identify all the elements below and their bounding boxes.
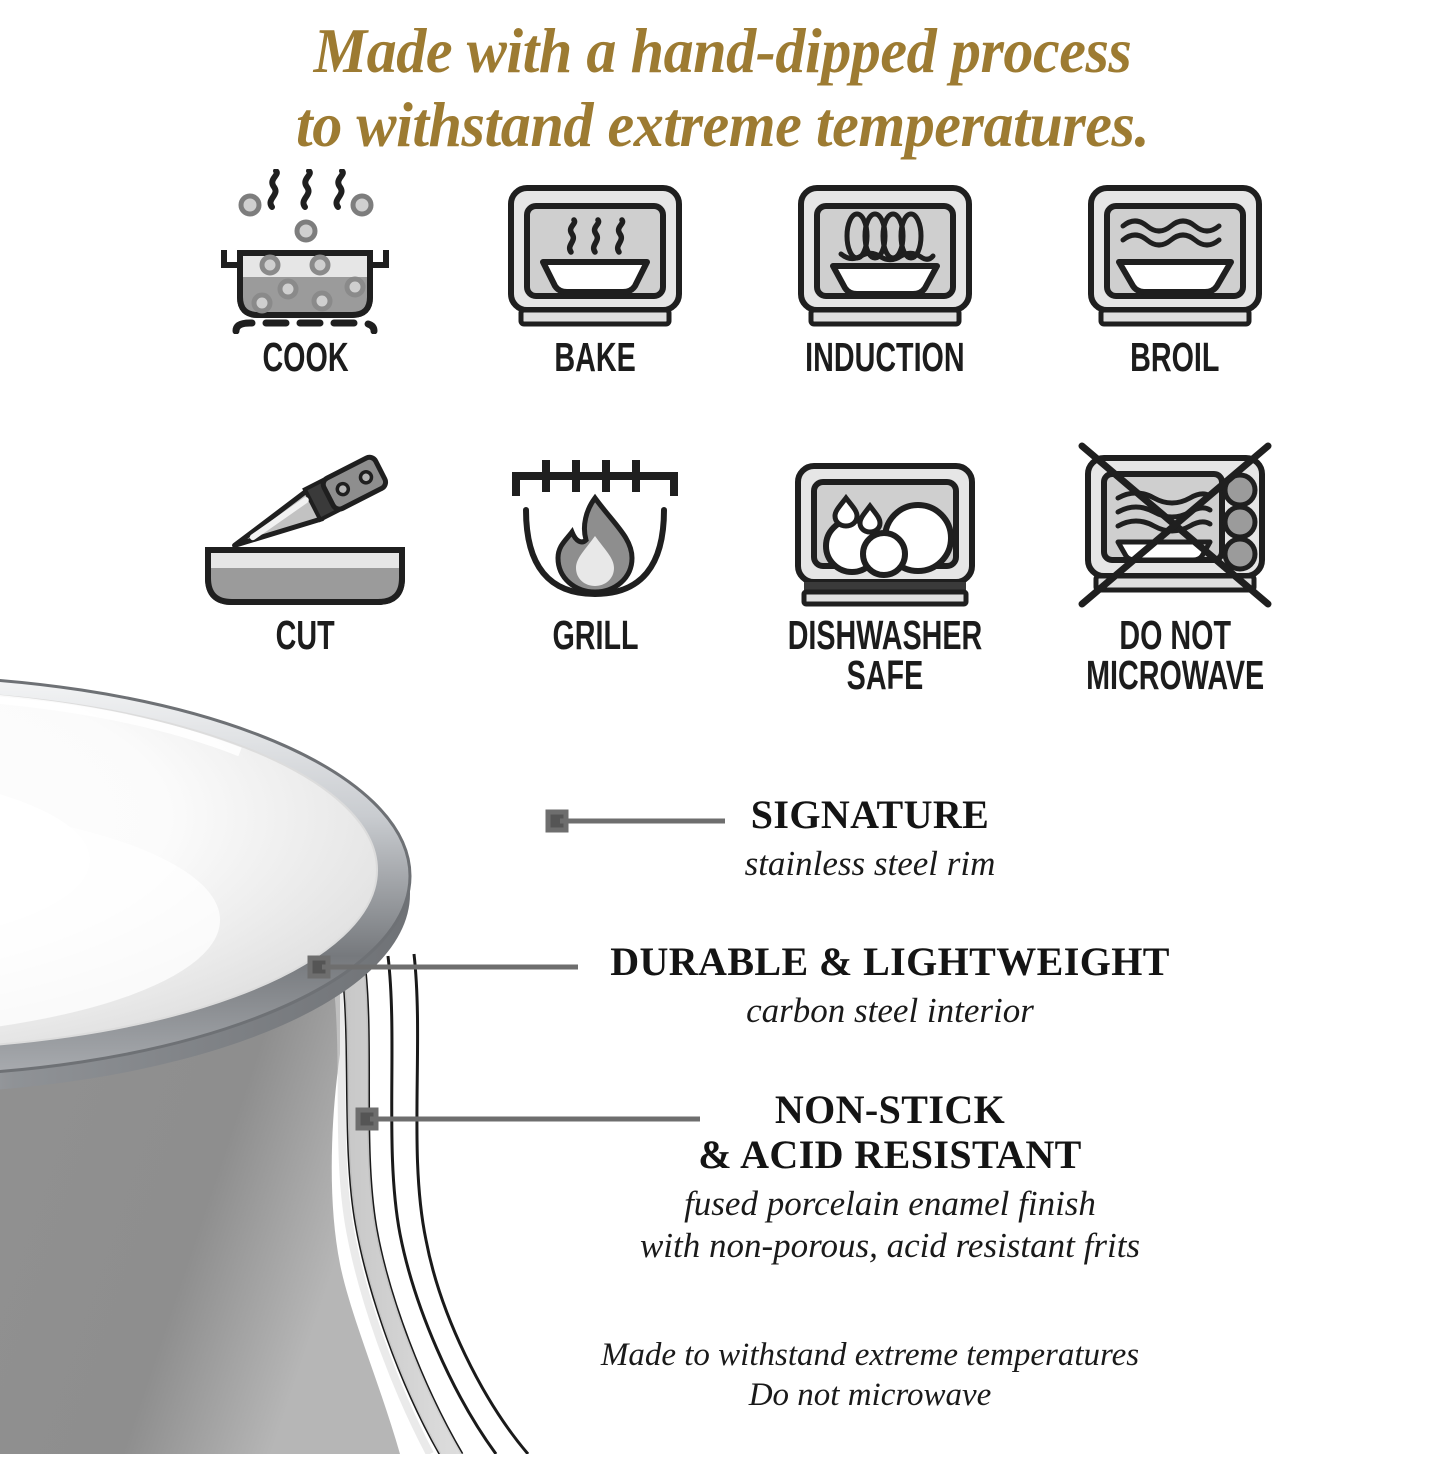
feature-induction: INDUCTION [740,176,1030,378]
feature-bake-label: BAKE [554,338,635,378]
broil-oven-icon [1085,176,1265,334]
feature-icon-grid: COOK BA [160,176,1320,695]
feature-broil: BROIL [1030,176,1320,378]
feature-broil-label: BROIL [1130,338,1219,378]
feature-cook: COOK [160,176,450,378]
induction-coil-icon [795,176,975,334]
callout-nonstick: NON-STICK & ACID RESISTANT fused porcela… [520,1088,1260,1267]
callout-nonstick-title: NON-STICK & ACID RESISTANT [520,1088,1260,1178]
feature-bake: BAKE [450,176,740,378]
callout-durable-title: DURABLE & LIGHTWEIGHT [545,940,1235,985]
callout-durable: DURABLE & LIGHTWEIGHT carbon steel inter… [545,940,1235,1032]
footnote-text: Made to withstand extreme temperatures D… [470,1335,1270,1416]
page-headline: Made with a hand-dipped process to withs… [43,14,1401,162]
cook-pot-icon [210,176,400,334]
callout-signature-title: SIGNATURE [590,793,1150,838]
do-not-microwave-icon [1070,444,1280,614]
pot-illustration [0,624,660,1454]
cut-knife-icon [200,444,410,614]
grill-flame-icon [502,444,688,614]
headline-line-2: to withstand extreme temperatures. [43,88,1401,162]
dishwasher-safe-icon [790,444,980,614]
callout-signature-subtitle: stainless steel rim [590,843,1150,885]
feature-induction-label: INDUCTION [805,338,964,378]
feature-dishwasher-safe: DISHWASHER SAFE [740,444,1030,696]
feature-do-not-microwave: DO NOT MICROWAVE [1030,444,1320,696]
bake-oven-icon [505,176,685,334]
feature-dishwasher-safe-label: DISHWASHER SAFE [788,616,983,696]
icon-row-1: COOK BA [160,176,1320,378]
callout-signature: SIGNATURE stainless steel rim [590,793,1150,885]
callout-nonstick-subtitle: fused porcelain enamel finish with non-p… [520,1183,1260,1267]
callout-durable-subtitle: carbon steel interior [545,990,1235,1032]
feature-do-not-microwave-label: DO NOT MICROWAVE [1086,616,1264,696]
infographic-canvas: Made with a hand-dipped process to withs… [0,0,1445,1445]
feature-cook-label: COOK [262,338,348,378]
headline-line-1: Made with a hand-dipped process [314,15,1132,86]
